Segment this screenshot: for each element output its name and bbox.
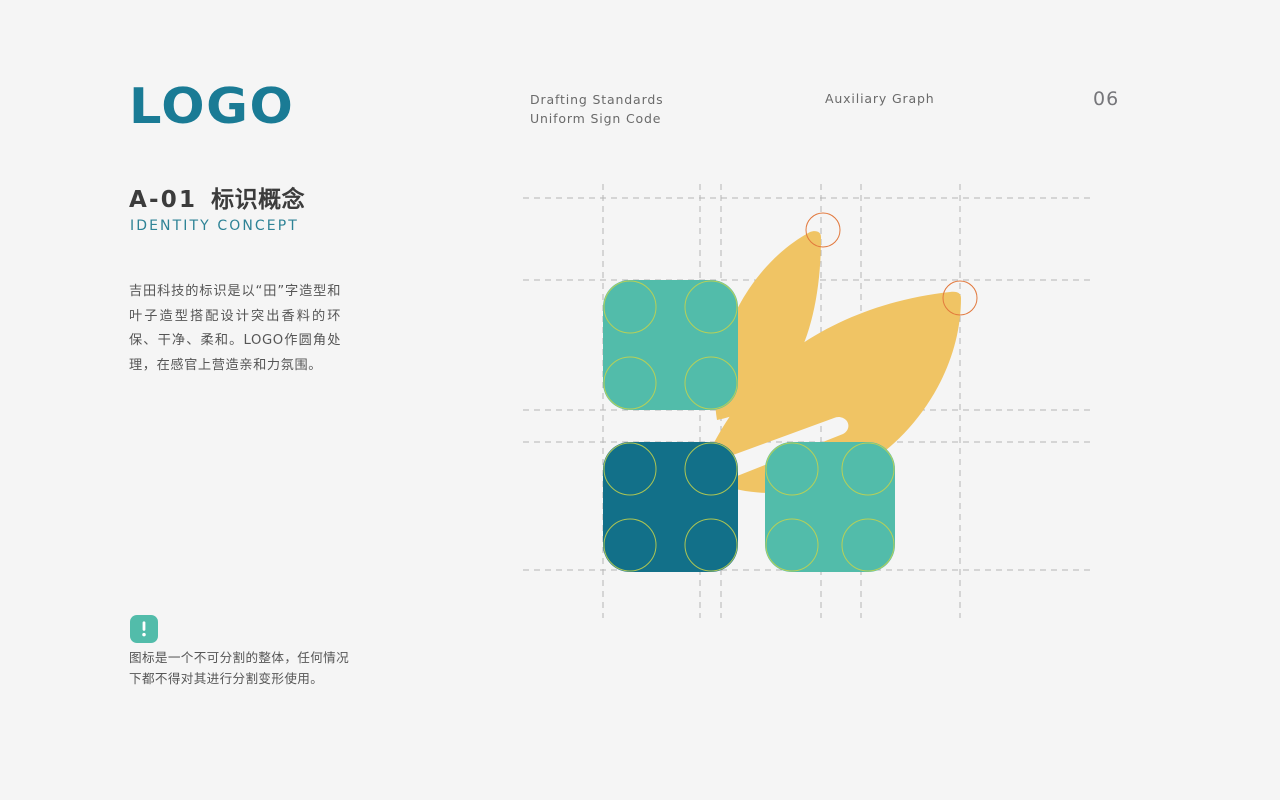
concept-description: 吉田科技的标识是以“田”字造型和叶子造型搭配设计突出香料的环保、干净、柔和。LO…	[129, 280, 341, 378]
exclamation-icon	[130, 615, 158, 643]
section-title-cn: 标识概念	[211, 187, 305, 213]
logo-construction-artboard	[505, 170, 1115, 630]
auxiliary-graph-label: Auxiliary Graph	[825, 91, 935, 106]
drafting-standards-line-2: Uniform Sign Code	[530, 109, 664, 128]
square-top-left	[603, 280, 738, 410]
square-bottom-left	[603, 442, 738, 572]
section-title: A-01标识概念	[129, 180, 305, 214]
note-text: 图标是一个不可分割的整体，任何情况下都不得对其进行分割变形使用。	[129, 647, 357, 689]
drafting-standards-block: Drafting Standards Uniform Sign Code	[530, 90, 664, 128]
section-code: A-01	[129, 187, 197, 213]
section-subtitle-en: IDENTITY CONCEPT	[130, 218, 299, 234]
drafting-standards-line-1: Drafting Standards	[530, 90, 664, 109]
page-number: 06	[1093, 88, 1119, 110]
page-canvas: LOGO Drafting Standards Uniform Sign Cod…	[0, 0, 1280, 800]
square-bottom-right	[765, 442, 895, 572]
logo-wordmark: LOGO	[129, 82, 294, 131]
leaf-tip-guide-upper	[806, 213, 840, 247]
